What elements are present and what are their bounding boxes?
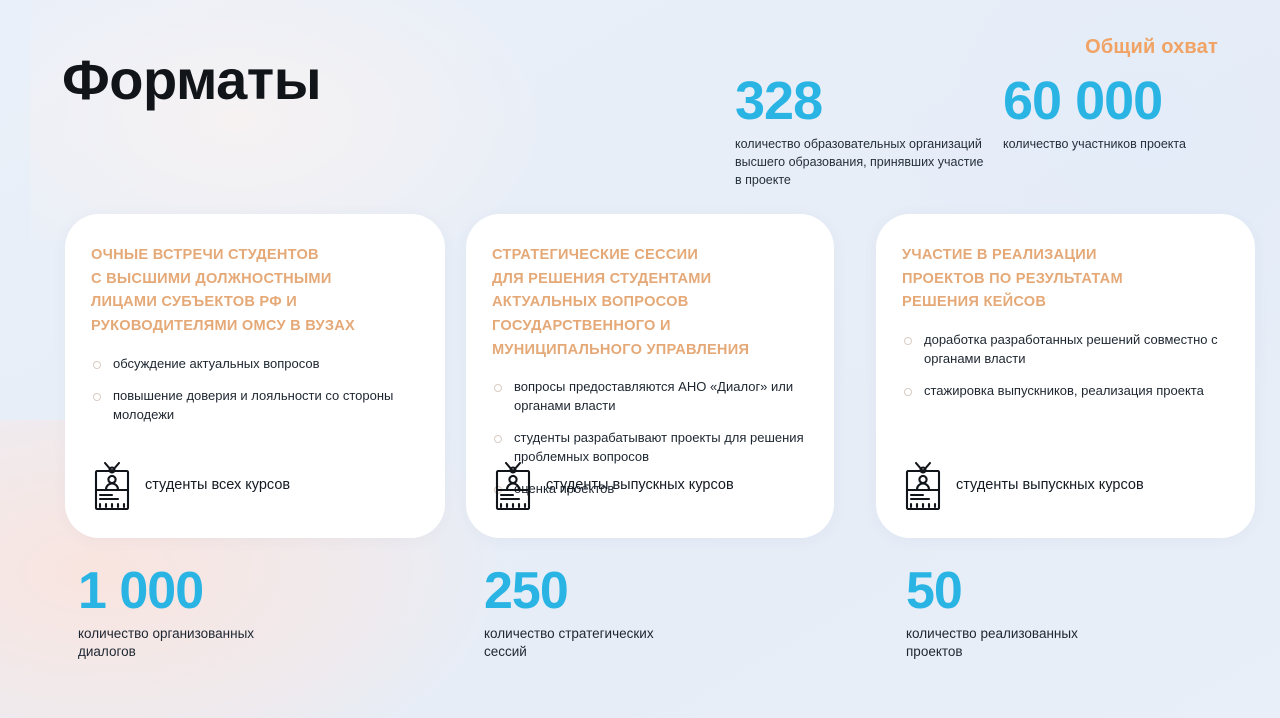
- format-card-meetings[interactable]: ОЧНЫЕ ВСТРЕЧИ СТУДЕНТОВ С ВЫСШИМИ ДОЛЖНО…: [65, 214, 445, 538]
- card-bullet-list: обсуждение актуальных вопросов повышение…: [91, 355, 419, 425]
- card-footer: студенты выпускных курсов: [902, 460, 1233, 512]
- card-footer-label: студенты выпускных курсов: [546, 477, 734, 494]
- list-item: доработка разработанных решений совместн…: [902, 331, 1229, 369]
- id-badge-icon: [91, 460, 133, 512]
- bottom-stat-caption: количество организованных диалогов: [78, 625, 408, 663]
- top-stat-caption: количество участников проекта: [1003, 136, 1273, 154]
- format-card-strategic-sessions[interactable]: СТРАТЕГИЧЕСКИЕ СЕССИИ ДЛЯ РЕШЕНИЯ СТУДЕН…: [466, 214, 834, 538]
- card-footer-label: студенты выпускных курсов: [956, 477, 1144, 494]
- card-bullet-list: доработка разработанных решений совместн…: [902, 331, 1229, 401]
- card-heading: ОЧНЫЕ ВСТРЕЧИ СТУДЕНТОВ С ВЫСШИМИ ДОЛЖНО…: [91, 244, 419, 339]
- top-stat-organizations: 328 количество образовательных организац…: [735, 74, 985, 189]
- bottom-stat-sessions: 250 количество стратегических сессий: [484, 564, 814, 662]
- bottom-stat-caption: количество реализованных проектов: [906, 625, 1236, 663]
- bottom-stat-projects: 50 количество реализованных проектов: [906, 564, 1236, 662]
- list-item: вопросы предоставляются АНО «Диалог» или…: [492, 378, 808, 416]
- id-badge-icon: [902, 460, 944, 512]
- top-stat-value: 60 000: [1003, 74, 1273, 129]
- total-reach-label: Общий охват: [1085, 36, 1218, 59]
- list-item: обсуждение актуальных вопросов: [91, 355, 419, 374]
- bottom-stat-value: 50: [906, 564, 1236, 619]
- bottom-stat-dialogs: 1 000 количество организованных диалогов: [78, 564, 408, 662]
- card-heading: СТРАТЕГИЧЕСКИЕ СЕССИИ ДЛЯ РЕШЕНИЯ СТУДЕН…: [492, 244, 808, 362]
- list-item: стажировка выпускников, реализация проек…: [902, 382, 1229, 401]
- bottom-stat-caption: количество стратегических сессий: [484, 625, 814, 663]
- top-stat-value: 328: [735, 74, 985, 129]
- card-footer-label: студенты всех курсов: [145, 477, 290, 494]
- bottom-stat-value: 1 000: [78, 564, 408, 619]
- slide-stage: Форматы Общий охват 328 количество образ…: [0, 0, 1280, 718]
- card-footer: студенты всех курсов: [91, 460, 423, 512]
- card-heading: УЧАСТИЕ В РЕАЛИЗАЦИИ ПРОЕКТОВ ПО РЕЗУЛЬТ…: [902, 244, 1229, 315]
- bottom-stat-value: 250: [484, 564, 814, 619]
- id-badge-icon: [492, 460, 534, 512]
- format-card-project-implementation[interactable]: УЧАСТИЕ В РЕАЛИЗАЦИИ ПРОЕКТОВ ПО РЕЗУЛЬТ…: [876, 214, 1255, 538]
- top-stat-caption: количество образовательных организаций в…: [735, 136, 985, 189]
- top-stat-participants: 60 000 количество участников проекта: [1003, 74, 1273, 154]
- card-footer: студенты выпускных курсов: [492, 460, 812, 512]
- list-item: повышение доверия и лояльности со сторон…: [91, 387, 419, 425]
- page-title: Форматы: [62, 52, 321, 108]
